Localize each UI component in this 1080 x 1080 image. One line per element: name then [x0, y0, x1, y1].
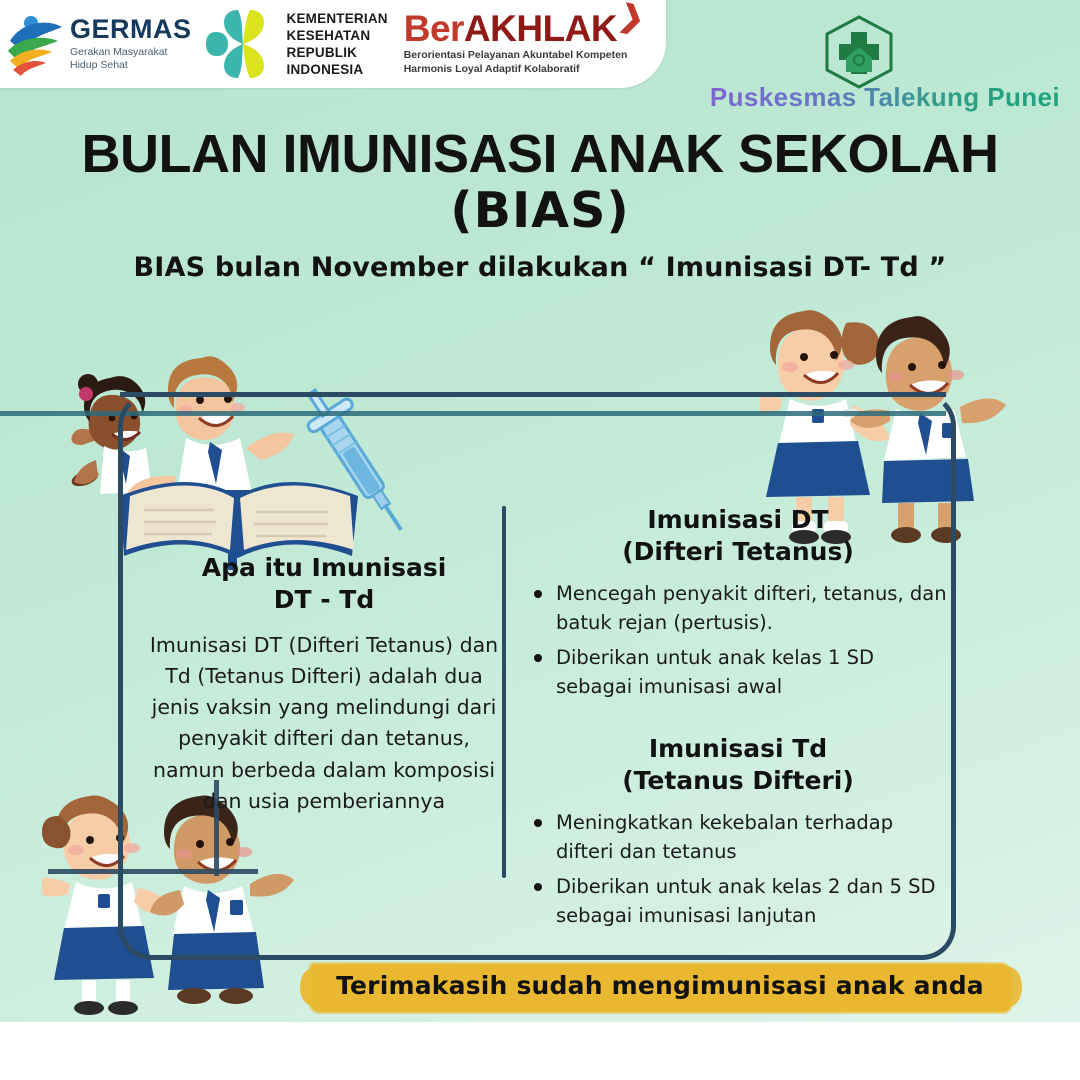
dt-bullet-list: Mencegah penyakit difteri, tetanus, dan … — [528, 580, 948, 701]
hexagon-health-cross-icon — [822, 14, 896, 90]
frame-top-line — [120, 392, 946, 397]
right-content-column: Imunisasi DT (Difteri Tetanus) Mencegah … — [528, 504, 948, 937]
germas-text-block: GERMAS Gerakan Masyarakat Hidup Sehat — [70, 16, 192, 72]
kemenkes-line4: INDONESIA — [287, 61, 388, 78]
clinic-name: Puskesmas Talekung Punei — [660, 82, 1060, 113]
page-title-line2: (BIAS) — [0, 182, 1080, 239]
list-item: Diberikan untuk anak kelas 2 dan 5 SD se… — [528, 873, 948, 931]
berakhlak-title-main: AKHLAK — [464, 8, 617, 49]
berakhlak-title-prefix: Ber — [404, 8, 464, 49]
header-logo-strip: GERMAS Gerakan Masyarakat Hidup Sehat — [0, 0, 666, 88]
germas-swoosh-icon — [4, 11, 66, 77]
berakhlak-tagline-line2: Harmonis Loyal Adaptif Kolaboratif — [404, 63, 628, 77]
list-item: Meningkatkan kekebalan terhadap difteri … — [528, 809, 948, 867]
page-title-line1: BULAN IMUNISASI ANAK SEKOLAH — [0, 126, 1080, 182]
dt-heading-line2: (Difteri Tetanus) — [528, 536, 948, 568]
kemenkes-line2: KESEHATAN — [287, 27, 388, 44]
germas-tagline: Gerakan Masyarakat Hidup Sehat — [70, 46, 192, 72]
germas-tagline-line1: Gerakan Masyarakat — [70, 46, 192, 59]
kemenkes-logo-group: KEMENTERIAN KESEHATAN REPUBLIK INDONESIA — [206, 6, 388, 82]
frame-lower-left-line — [48, 869, 258, 874]
list-item: Diberikan untuk anak kelas 1 SD sebagai … — [528, 644, 948, 702]
poster-root: GERMAS Gerakan Masyarakat Hidup Sehat — [0, 0, 1080, 1080]
chevron-up-right-icon: ❯ — [616, 2, 646, 35]
germas-name: GERMAS — [70, 16, 192, 43]
left-heading-line2: DT - Td — [148, 584, 500, 616]
left-body-text: Imunisasi DT (Difteri Tetanus) dan Td (T… — [148, 630, 500, 817]
left-heading-line1: Apa itu Imunisasi — [148, 552, 500, 584]
poster-canvas: GERMAS Gerakan Masyarakat Hidup Sehat — [0, 0, 1080, 1022]
kemenkes-line3: REPUBLIK — [287, 44, 388, 61]
berakhlak-title: BerAKHLAK❯ — [404, 11, 628, 46]
germas-tagline-line2: Hidup Sehat — [70, 59, 192, 72]
thank-you-text: Terimakasih sudah mengimunisasi anak and… — [310, 971, 1010, 1000]
page-subtitle: BIAS bulan November dilakukan “ Imunisas… — [0, 252, 1080, 283]
dt-heading: Imunisasi DT (Difteri Tetanus) — [528, 504, 948, 568]
column-divider — [502, 506, 506, 878]
dt-heading-line1: Imunisasi DT — [528, 504, 948, 536]
left-content-column: Apa itu Imunisasi DT - Td Imunisasi DT (… — [148, 552, 500, 817]
td-heading-line1: Imunisasi Td — [528, 733, 948, 765]
berakhlak-logo-group: BerAKHLAK❯ Berorientasi Pelayanan Akunta… — [404, 11, 628, 76]
kemenkes-text-block: KEMENTERIAN KESEHATAN REPUBLIK INDONESIA — [287, 10, 388, 78]
berakhlak-tagline-line1: Berorientasi Pelayanan Akuntabel Kompete… — [404, 49, 628, 63]
td-heading-line2: (Tetanus Difteri) — [528, 765, 948, 797]
germas-logo-group: GERMAS Gerakan Masyarakat Hidup Sehat — [4, 11, 192, 77]
kemenkes-line1: KEMENTERIAN — [287, 10, 388, 27]
left-heading: Apa itu Imunisasi DT - Td — [148, 552, 500, 616]
td-heading: Imunisasi Td (Tetanus Difteri) — [528, 733, 948, 797]
section-gap — [528, 707, 948, 733]
td-bullet-list: Meningkatkan kekebalan terhadap difteri … — [528, 809, 948, 930]
list-item: Mencegah penyakit difteri, tetanus, dan … — [528, 580, 948, 638]
kemenkes-clover-icon — [206, 6, 280, 82]
berakhlak-tagline: Berorientasi Pelayanan Akuntabel Kompete… — [404, 49, 628, 76]
